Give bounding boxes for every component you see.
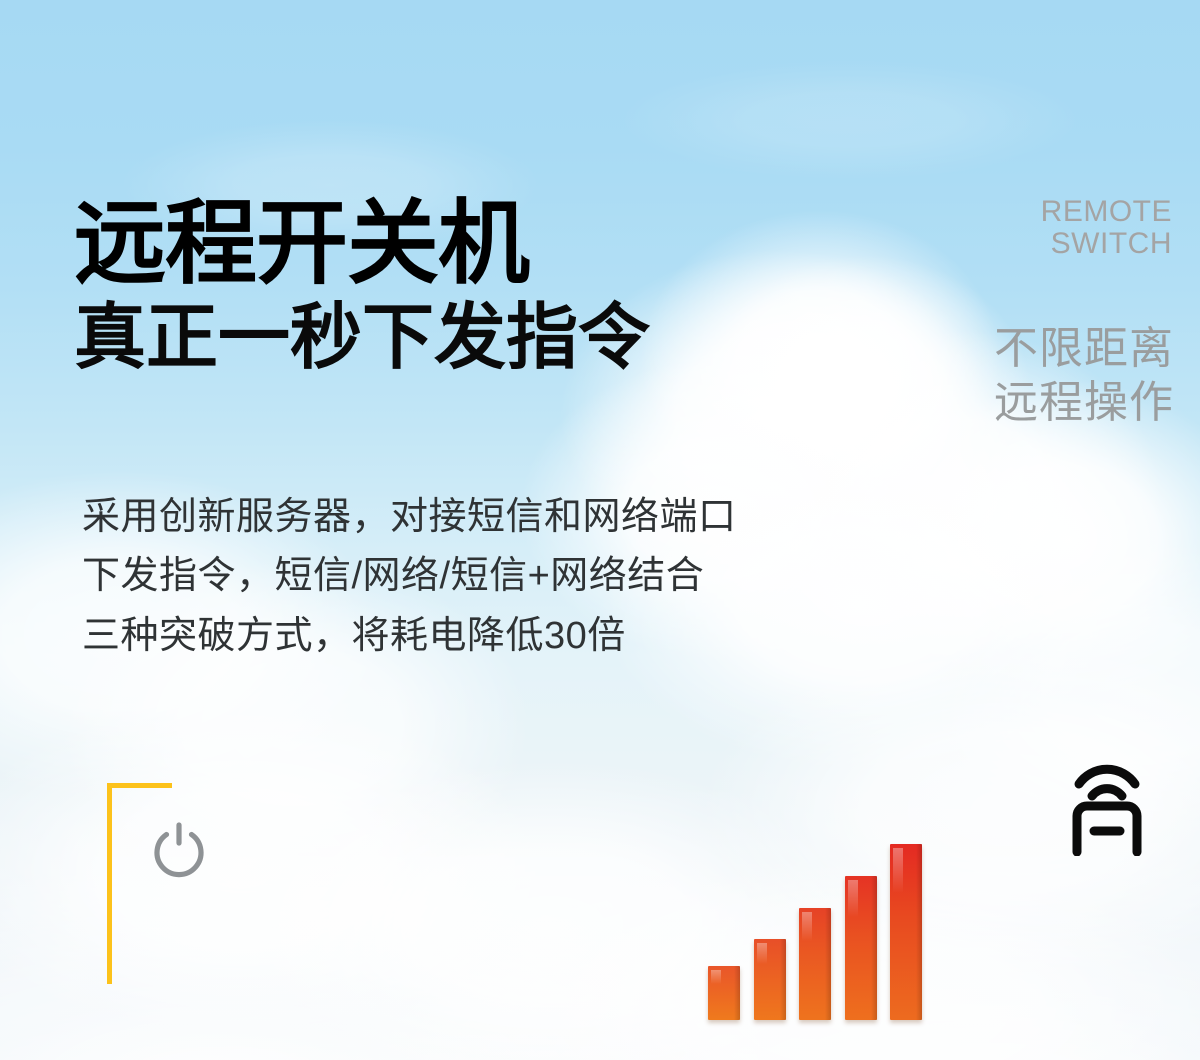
page-title: 远程开关机	[74, 198, 650, 292]
cloud-shape	[930, 540, 1200, 840]
cloud-shape	[640, 210, 1000, 510]
promo-poster: 远程开关机 真正一秒下发指令 采用创新服务器，对接短信和网络端口 下发指令，短信…	[0, 0, 1200, 1060]
chart-bar	[890, 844, 922, 1020]
chart-bar	[845, 876, 877, 1020]
side-label: 不限距离 远程操作	[994, 322, 1174, 429]
page-subtitle: 真正一秒下发指令	[74, 298, 650, 379]
growth-bar-chart	[708, 840, 928, 1020]
description-line-3: 三种突破方式，将耗电降低30倍	[82, 607, 737, 666]
eyebrow-line-2: SWITCH	[1041, 228, 1172, 260]
chart-bar	[799, 908, 831, 1020]
side-label-line-1: 不限距离	[994, 322, 1174, 376]
cloud-haze	[0, 760, 1200, 1060]
headline-block: 远程开关机 真正一秒下发指令	[74, 198, 650, 378]
description-line-2: 下发指令，短信/网络/短信+网络结合	[82, 547, 737, 606]
eyebrow-label: REMOTE SWITCH	[1041, 196, 1172, 261]
eyebrow-line-1: REMOTE	[1041, 196, 1172, 228]
power-icon	[150, 820, 208, 882]
cloud-shape	[0, 700, 540, 1040]
corner-bracket-icon	[107, 783, 172, 984]
chart-bar	[708, 966, 740, 1020]
description-line-1: 采用创新服务器，对接短信和网络端口	[82, 488, 737, 547]
wifi-device-icon	[1068, 758, 1146, 856]
side-label-line-2: 远程操作	[994, 376, 1174, 430]
description-text: 采用创新服务器，对接短信和网络端口 下发指令，短信/网络/短信+网络结合 三种突…	[82, 488, 737, 666]
chart-bar	[754, 939, 786, 1020]
cloud-shape	[700, 255, 1030, 525]
cloud-wisp	[620, 60, 1080, 180]
